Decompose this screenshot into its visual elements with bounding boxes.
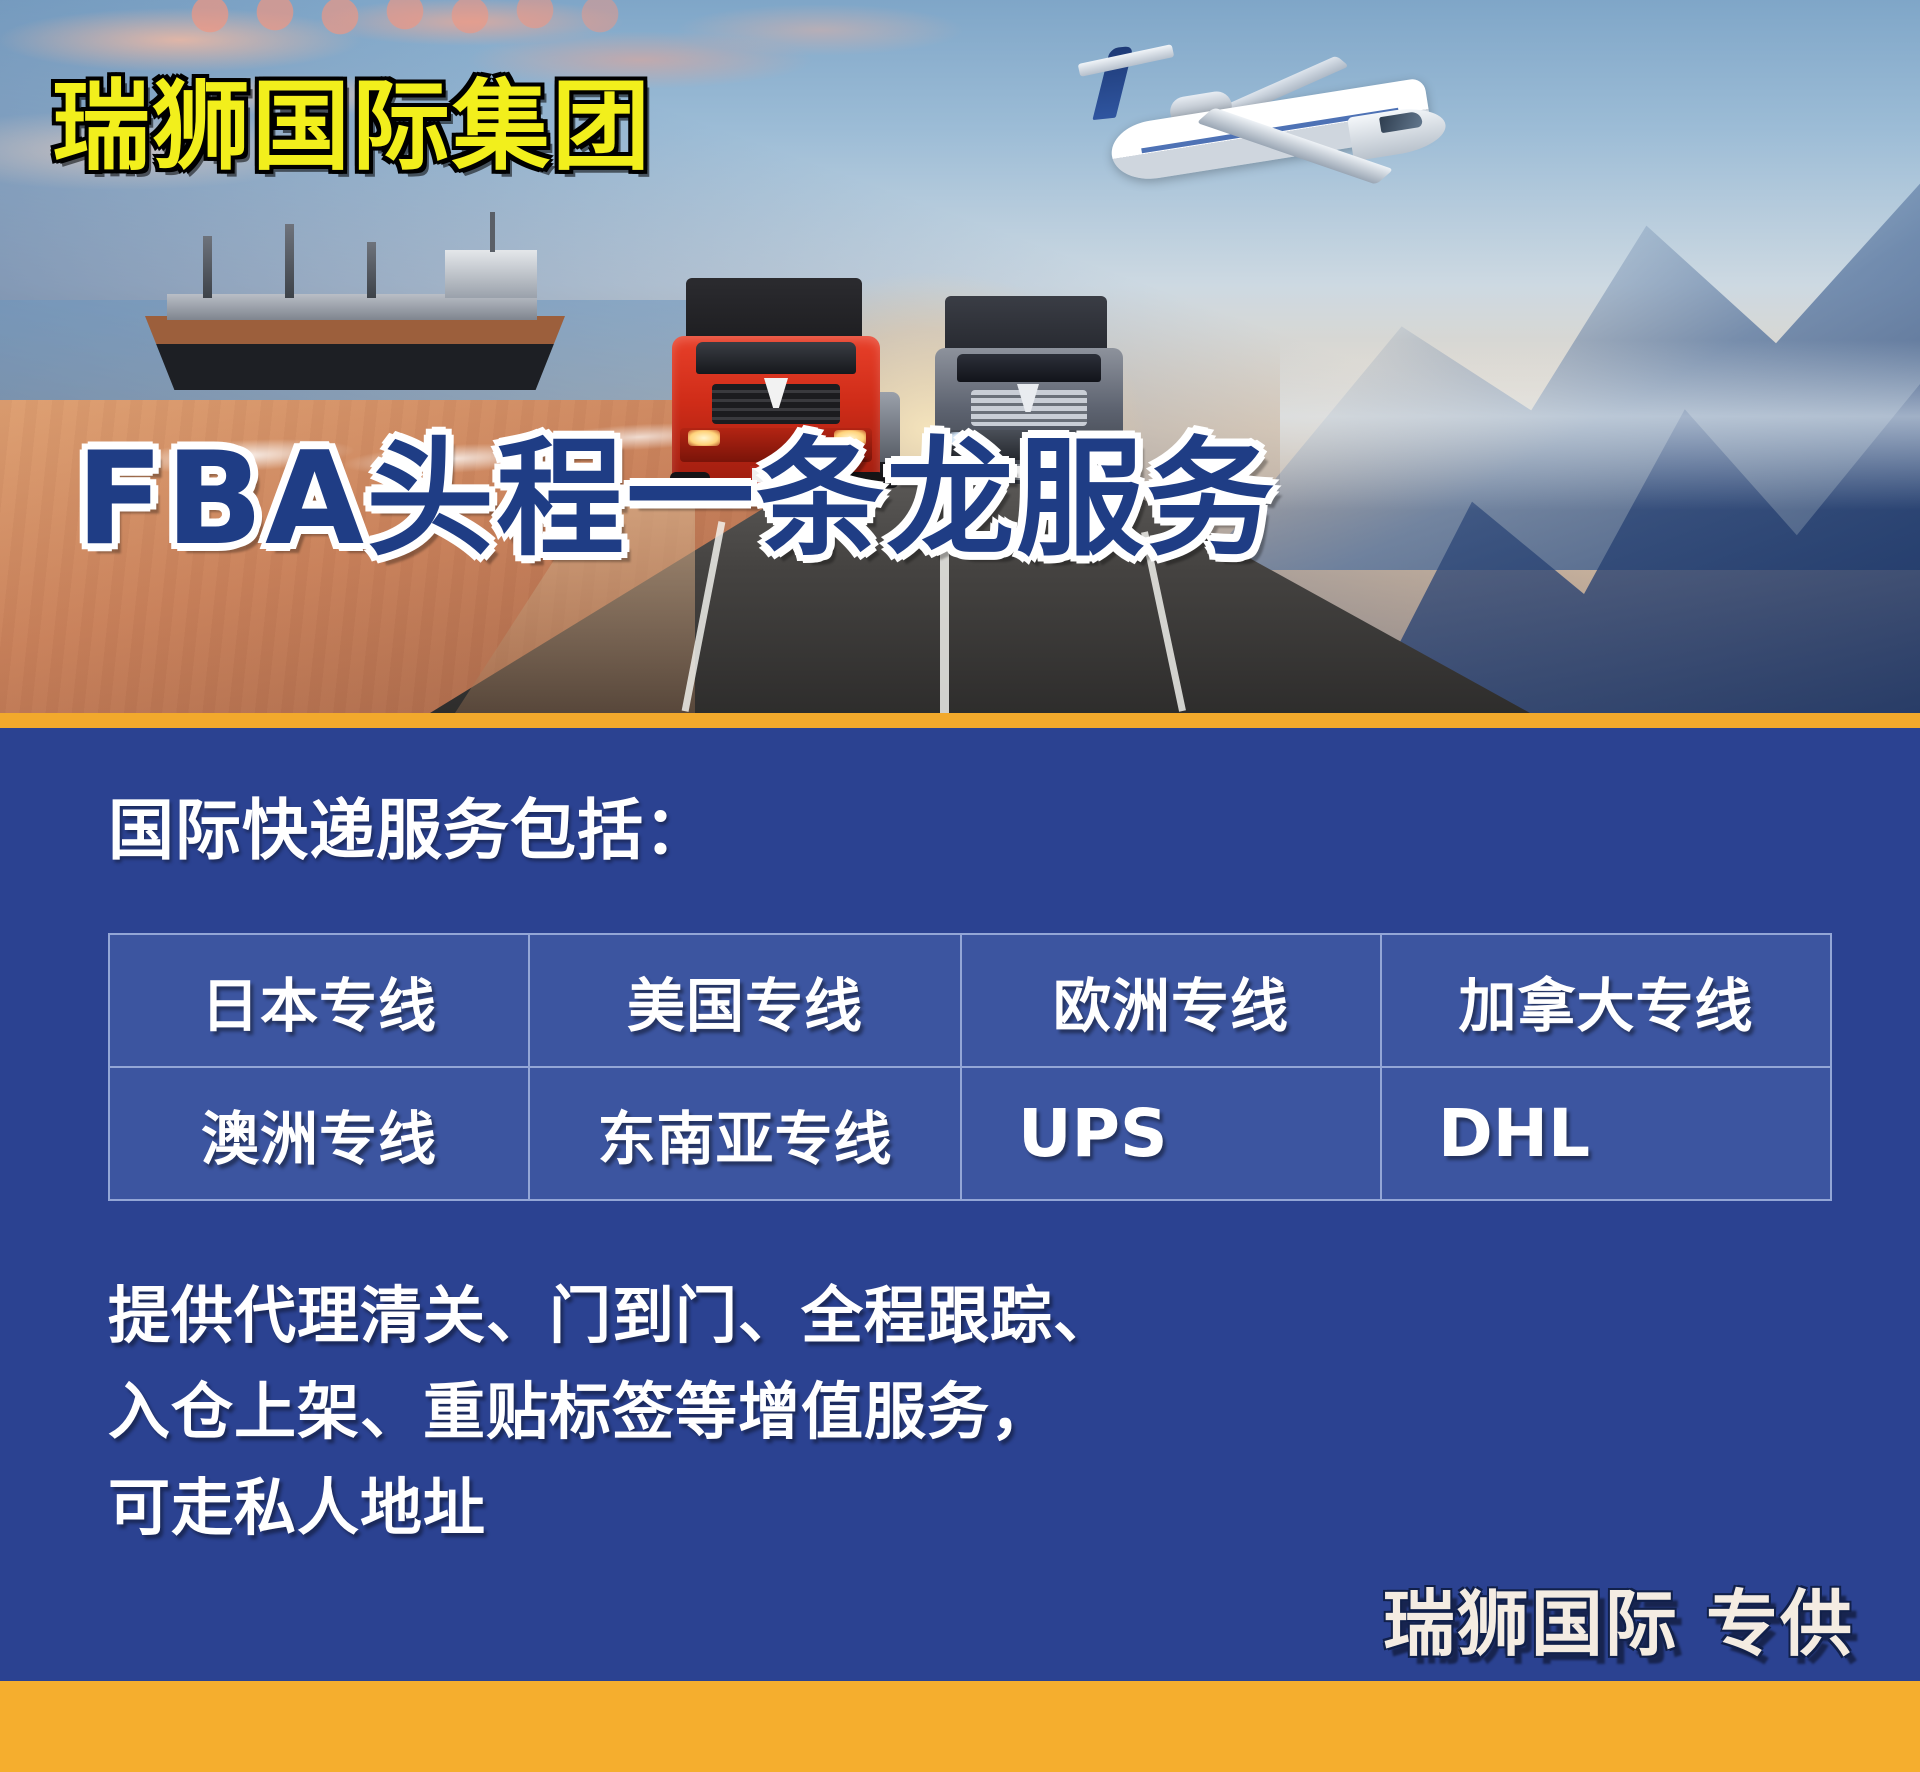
ship-crane: [367, 242, 376, 298]
service-cell-southeast-asia[interactable]: 东南亚专线: [529, 1067, 961, 1200]
scalloped-cloud-decor: [180, 0, 700, 46]
body-line-3: 可走私人地址: [108, 1460, 1116, 1556]
service-cell-europe[interactable]: 欧洲专线: [961, 934, 1381, 1067]
service-cell-japan[interactable]: 日本专线: [109, 934, 529, 1067]
footer-brand-text: 瑞狮国际 专供: [1383, 1588, 1854, 1660]
gold-divider-rule: [0, 713, 1920, 728]
table-row: 日本专线 美国专线 欧洲专线 加拿大专线: [109, 934, 1831, 1067]
mountain-mist-decor: [1280, 340, 1920, 510]
service-cell-australia[interactable]: 澳洲专线: [109, 1067, 529, 1200]
ship-mast: [490, 212, 495, 252]
service-cell-canada[interactable]: 加拿大专线: [1381, 934, 1831, 1067]
body-line-1: 提供代理清关、门到门、全程跟踪、: [108, 1268, 1116, 1364]
red-truck-windshield: [696, 342, 856, 374]
company-logo-text: 瑞狮国际集团: [52, 78, 652, 176]
ship-hull: [145, 316, 565, 390]
service-cell-ups[interactable]: UPS: [961, 1067, 1381, 1200]
services-table: 日本专线 美国专线 欧洲专线 加拿大专线 澳洲专线 东南亚专线 UPS DHL: [108, 933, 1832, 1201]
hero-photo-collage: 瑞狮国际集团 FBA头程一条龙服务: [0, 0, 1920, 713]
poster-canvas: 瑞狮国际集团 FBA头程一条龙服务 国际快递服务包括： 日本专线 美国专线 欧洲…: [0, 0, 1920, 1772]
body-line-2: 入仓上架、重贴标签等增值服务，: [108, 1364, 1116, 1460]
value-added-services-copy: 提供代理清关、门到门、全程跟踪、 入仓上架、重贴标签等增值服务， 可走私人地址: [108, 1268, 1116, 1556]
ship-crane: [285, 224, 294, 298]
service-cell-dhl[interactable]: DHL: [1381, 1067, 1831, 1200]
bottom-accent-bar: [0, 1681, 1920, 1772]
airplane-icon: [1050, 40, 1450, 230]
cargo-ship-icon: [145, 240, 565, 390]
section-title: 国际快递服务包括：: [108, 798, 711, 864]
hero-headline: FBA头程一条龙服务: [76, 436, 1276, 564]
table-row: 澳洲专线 东南亚专线 UPS DHL: [109, 1067, 1831, 1200]
ship-crane: [203, 236, 212, 298]
service-cell-usa[interactable]: 美国专线: [529, 934, 961, 1067]
grey-truck-windshield: [957, 354, 1101, 382]
ship-superstructure: [445, 250, 537, 298]
